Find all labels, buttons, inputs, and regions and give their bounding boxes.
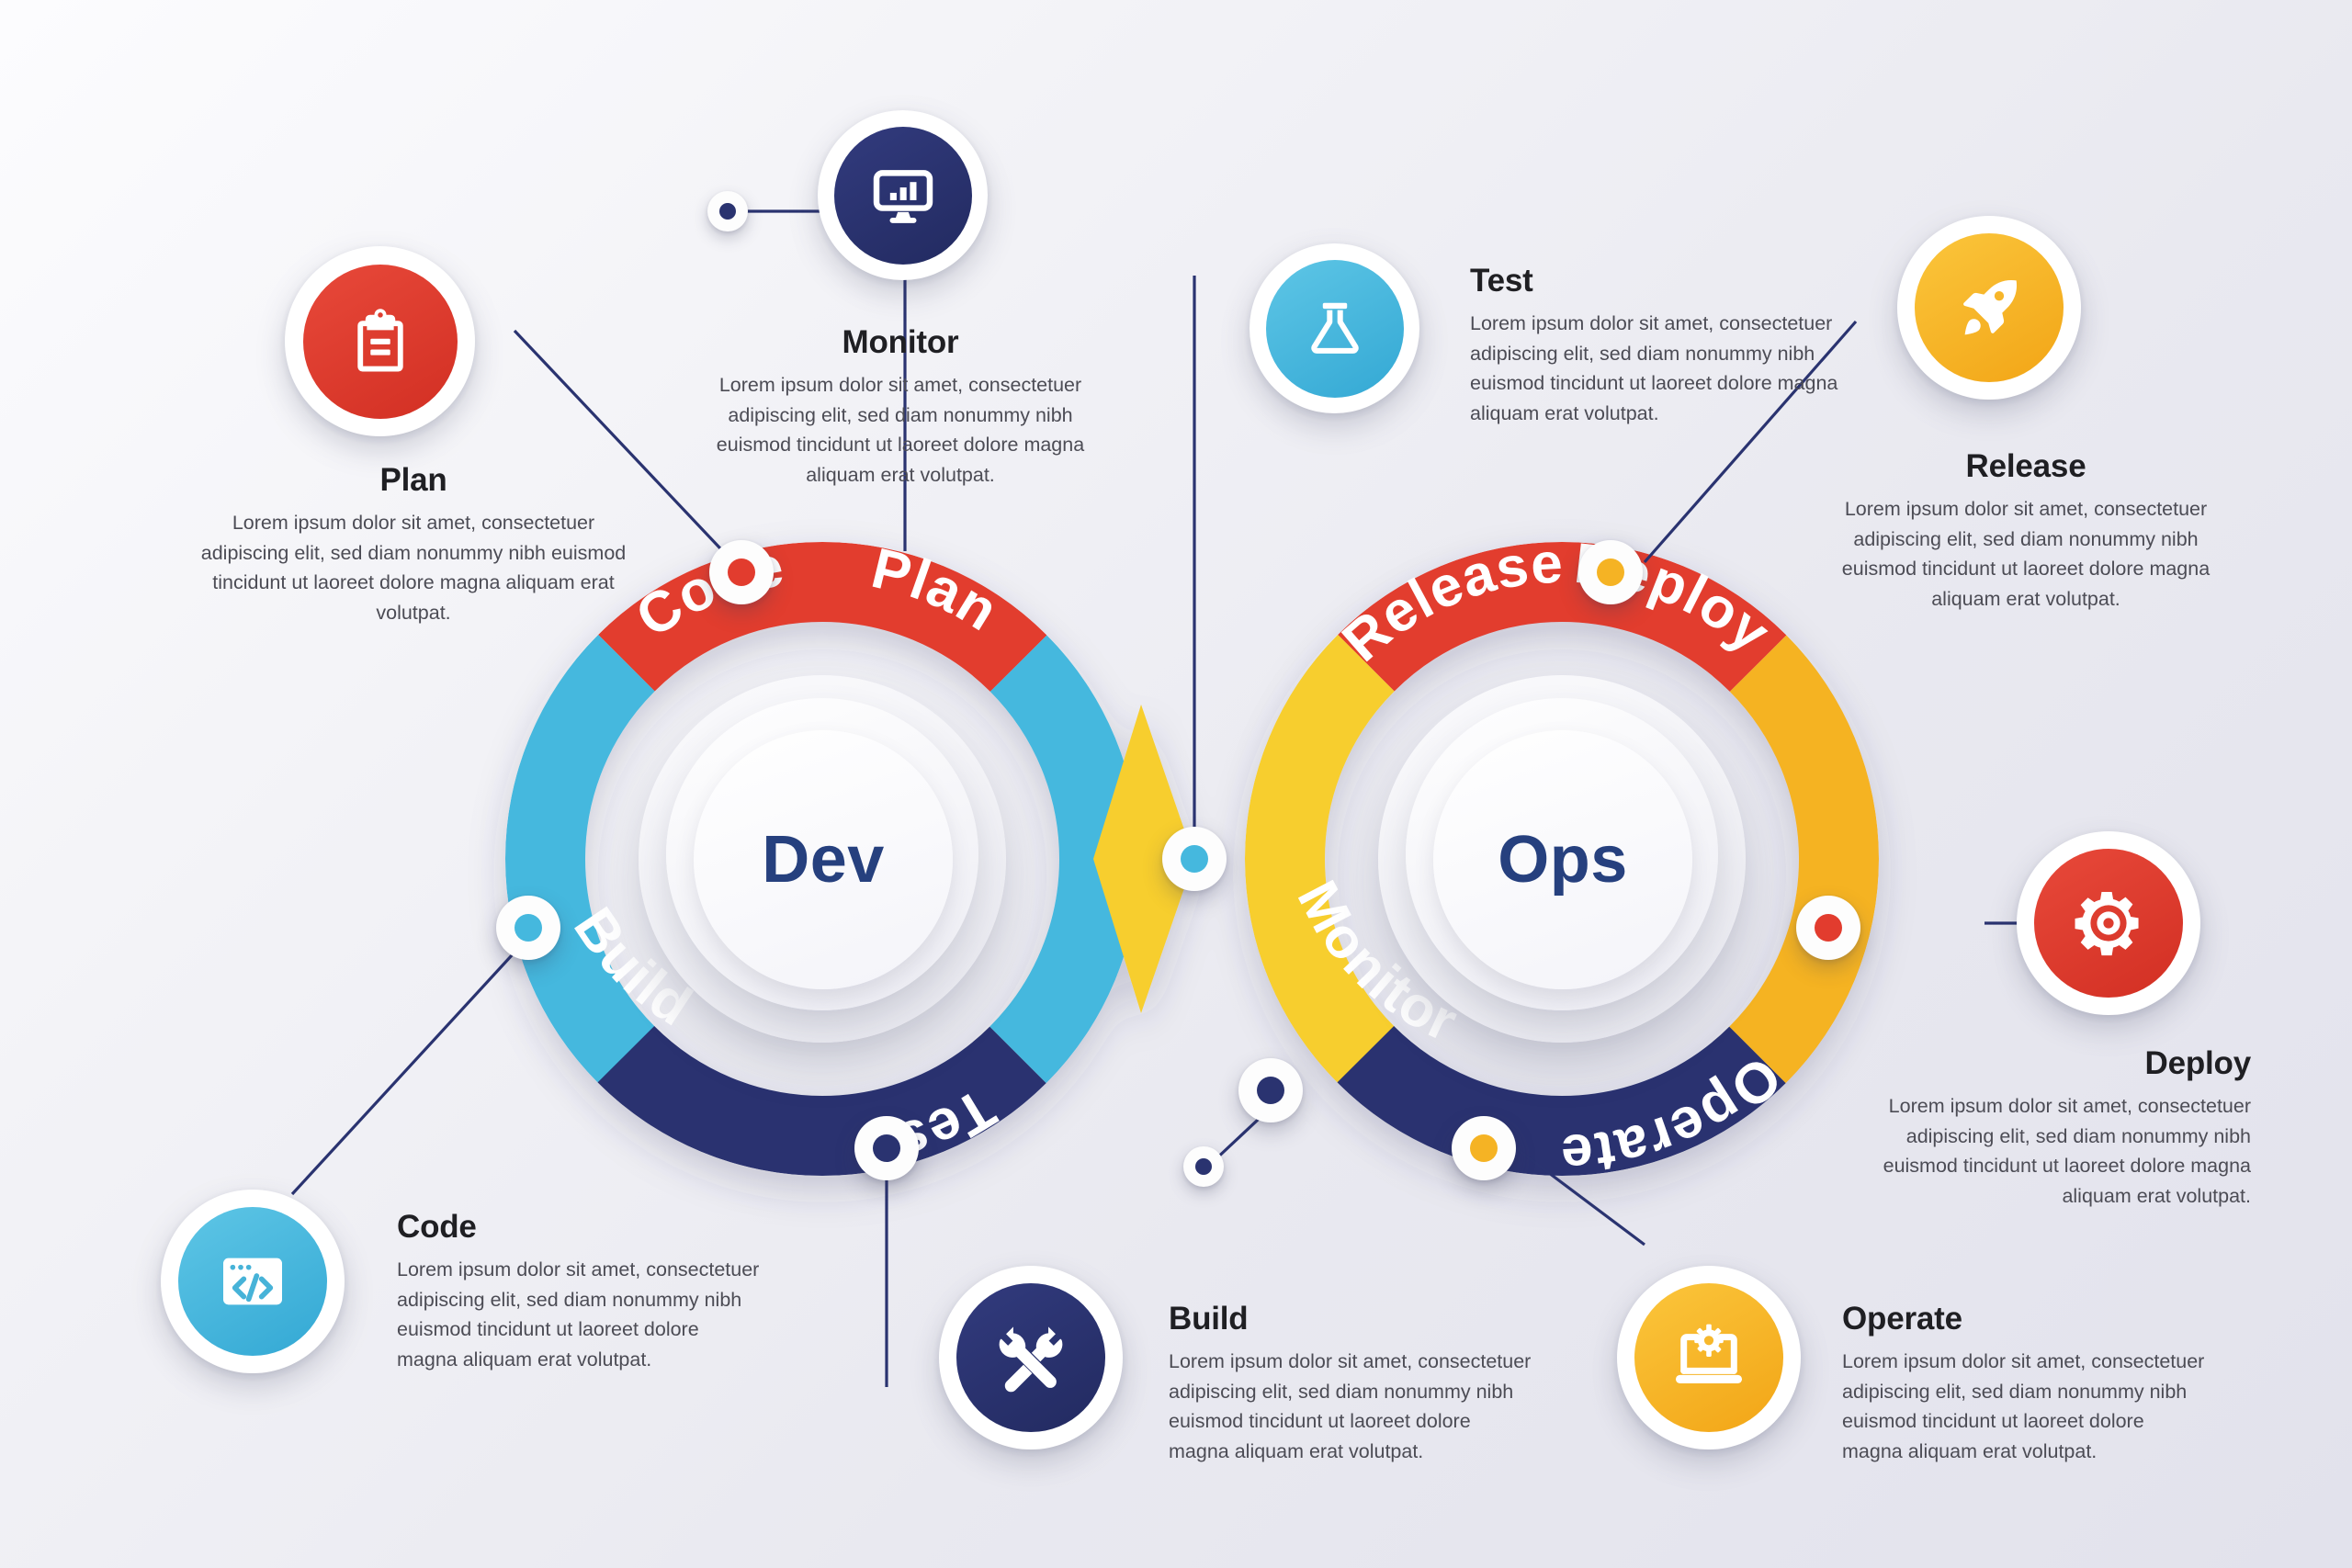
node-operate[interactable]: [1452, 1116, 1516, 1180]
info-test-title: Test: [1470, 265, 1856, 297]
tools-icon: [992, 1319, 1069, 1396]
info-build: Build Lorem ipsum dolor sit amet, consec…: [1169, 1303, 1536, 1467]
badge-plan[interactable]: [285, 246, 475, 436]
badge-operate[interactable]: [1617, 1266, 1801, 1450]
info-plan: Plan Lorem ipsum dolor sit amet, consect…: [188, 464, 639, 628]
info-release-desc: Lorem ipsum dolor sit amet, consectetuer…: [1833, 494, 2219, 615]
info-code-desc: Lorem ipsum dolor sit amet, consectetuer…: [397, 1255, 764, 1375]
node-plan[interactable]: [709, 540, 774, 604]
ops-hub-inner: Ops: [1433, 730, 1692, 989]
info-test: Test Lorem ipsum dolor sit amet, consect…: [1470, 265, 1856, 429]
info-deploy-title: Deploy: [1865, 1047, 2251, 1079]
infographic-canvas: Plan Code Build Test Release Deploy Oper…: [0, 0, 2352, 1568]
info-operate: Operate Lorem ipsum dolor sit amet, cons…: [1842, 1303, 2210, 1467]
info-plan-title: Plan: [188, 464, 639, 496]
badge-release[interactable]: [1897, 216, 2081, 400]
badge-deploy[interactable]: [2017, 831, 2200, 1015]
info-operate-title: Operate: [1842, 1303, 2210, 1335]
minidot-monitor-top[interactable]: [707, 191, 748, 231]
info-deploy-desc: Lorem ipsum dolor sit amet, consectetuer…: [1865, 1091, 2251, 1212]
info-test-desc: Lorem ipsum dolor sit amet, consectetuer…: [1470, 309, 1856, 429]
clipboard-icon: [345, 306, 416, 378]
node-release[interactable]: [1578, 540, 1643, 604]
info-build-desc: Lorem ipsum dolor sit amet, consectetuer…: [1169, 1347, 1536, 1467]
node-deploy[interactable]: [1796, 896, 1860, 960]
info-release: Release Lorem ipsum dolor sit amet, cons…: [1833, 450, 2219, 615]
dev-label: Dev: [762, 822, 885, 897]
gear-icon: [2070, 885, 2147, 962]
node-monitor[interactable]: [1238, 1058, 1303, 1122]
info-code: Code Lorem ipsum dolor sit amet, consect…: [397, 1211, 764, 1375]
badge-test[interactable]: [1249, 243, 1419, 413]
monitor-chart-icon: [869, 162, 937, 230]
badge-build[interactable]: [939, 1266, 1123, 1450]
laptop-gear-icon: [1670, 1319, 1747, 1396]
info-monitor-top: Monitor Lorem ipsum dolor sit amet, cons…: [698, 326, 1102, 491]
code-window-icon: [216, 1245, 289, 1318]
info-operate-desc: Lorem ipsum dolor sit amet, consectetuer…: [1842, 1347, 2210, 1467]
node-code[interactable]: [496, 896, 560, 960]
node-build[interactable]: [854, 1116, 919, 1180]
node-center-junction[interactable]: [1162, 827, 1227, 891]
dev-hub-inner: Dev: [694, 730, 953, 989]
info-code-title: Code: [397, 1211, 764, 1243]
info-plan-desc: Lorem ipsum dolor sit amet, consectetuer…: [188, 508, 639, 628]
leader-code: [292, 932, 533, 1194]
minidot-monitor-bottom[interactable]: [1183, 1146, 1224, 1187]
info-release-title: Release: [1833, 450, 2219, 482]
ops-label: Ops: [1498, 822, 1628, 897]
badge-code[interactable]: [161, 1190, 345, 1373]
info-monitor-title: Monitor: [698, 326, 1102, 358]
flask-icon: [1302, 296, 1368, 362]
info-build-title: Build: [1169, 1303, 1536, 1335]
info-deploy: Deploy Lorem ipsum dolor sit amet, conse…: [1865, 1047, 2251, 1212]
rocket-icon: [1952, 271, 2026, 344]
badge-monitor-top[interactable]: [818, 110, 988, 280]
info-monitor-desc: Lorem ipsum dolor sit amet, consectetuer…: [698, 370, 1102, 491]
